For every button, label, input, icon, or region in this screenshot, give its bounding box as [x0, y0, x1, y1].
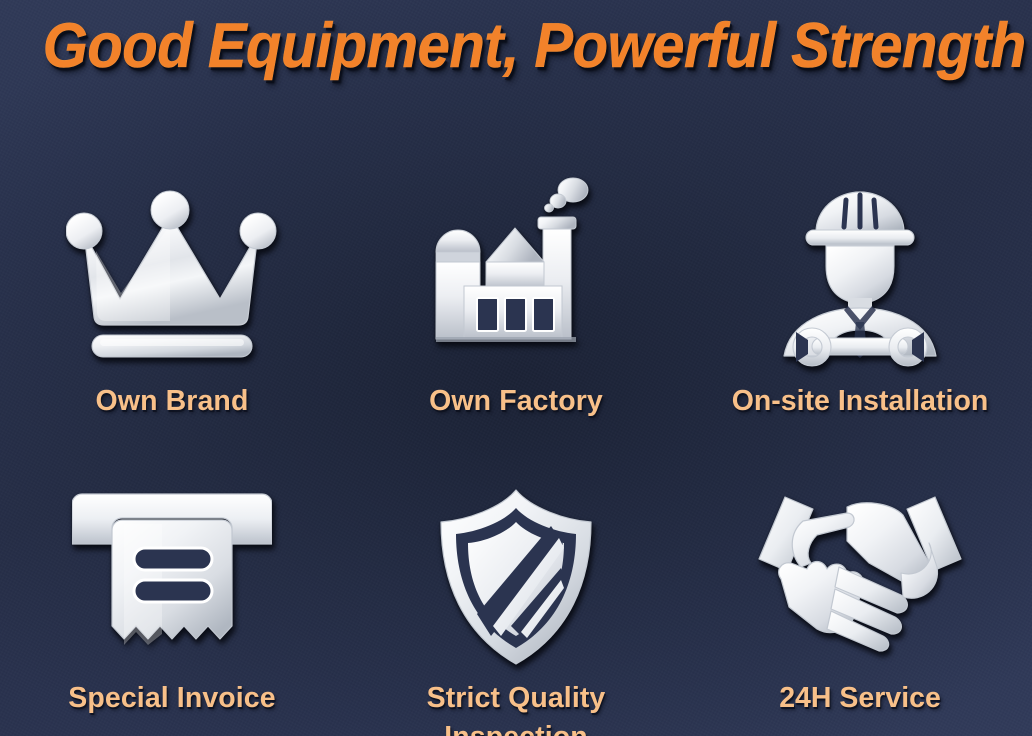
feature-label: Own Brand [96, 382, 249, 421]
worker-wrench-icon-box [766, 174, 954, 376]
factory-icon [418, 174, 614, 376]
crown-icon [66, 189, 278, 361]
feature-label: Special Invoice [68, 679, 275, 718]
feature-label: Own Factory [429, 382, 603, 421]
feature-item-onsite-installation[interactable]: On-site Installation [688, 168, 1032, 463]
shield-icon-box [431, 481, 601, 673]
feature-item-strict-quality-inspection[interactable]: Strict Quality Inspection [344, 463, 688, 736]
feature-grid: Own Brand [0, 168, 1032, 736]
page-title: Good Equipment, Powerful Strength [43, 14, 1026, 78]
feature-item-24h-service[interactable]: 24H Service [688, 463, 1032, 736]
feature-label: On-site Installation [732, 382, 989, 421]
factory-icon-box [418, 174, 614, 376]
invoice-receipt-icon [72, 482, 272, 672]
feature-item-special-invoice[interactable]: Special Invoice [0, 463, 344, 736]
crown-icon-box [66, 174, 278, 376]
worker-wrench-icon [766, 180, 954, 370]
handshake-icon [751, 491, 969, 663]
title-container: Good Equipment, Powerful Strength [0, 14, 1032, 78]
feature-item-own-factory[interactable]: Own Factory [344, 168, 688, 463]
shield-icon [431, 486, 601, 668]
feature-label: Strict Quality Inspection [427, 679, 606, 736]
feature-label: 24H Service [779, 679, 941, 718]
invoice-receipt-icon-box [72, 481, 272, 673]
handshake-icon-box [751, 481, 969, 673]
feature-item-own-brand[interactable]: Own Brand [0, 168, 344, 463]
poster-canvas: Good Equipment, Powerful Strength [0, 0, 1032, 736]
